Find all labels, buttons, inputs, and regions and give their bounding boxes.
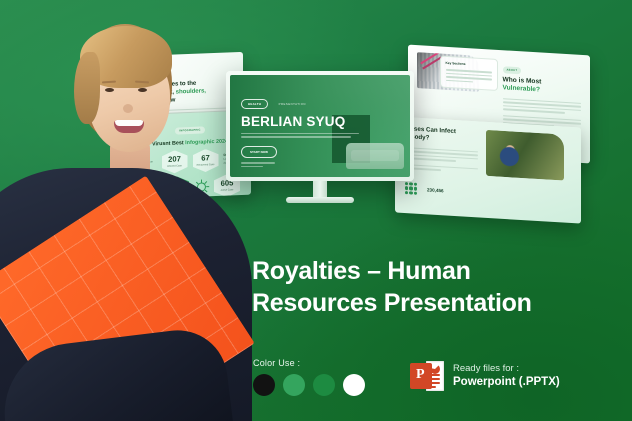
- monitor-bezel: HEALTH PRESENTATION BERLIAN SYUQ START N…: [226, 71, 414, 181]
- page-title-line2: Resources Presentation: [252, 288, 582, 320]
- powerpoint-letter: P: [416, 368, 425, 382]
- page-title: Royalties – Human Resources Presentation: [252, 256, 582, 319]
- powerpoint-tile: P: [410, 363, 432, 389]
- ready-files-line1: Ready files for :: [453, 363, 560, 375]
- monitor-stand-base: [286, 197, 354, 203]
- nose: [123, 104, 133, 113]
- desktop-monitor-mockup[interactable]: HEALTH PRESENTATION BERLIAN SYUQ START N…: [226, 71, 414, 203]
- slide-infect-title: ...uses Can Infect ...Body?: [405, 125, 478, 146]
- color-swatch-green[interactable]: [313, 374, 335, 396]
- monitor-screen: HEALTH PRESENTATION BERLIAN SYUQ START N…: [230, 75, 410, 177]
- page-title-line1: Royalties – Human: [252, 256, 582, 288]
- model-photo: [0, 16, 232, 421]
- key-sections-card: Key Sections: [440, 55, 498, 90]
- ready-files-line2: Powerpoint (.PPTX): [453, 375, 560, 389]
- monitor-slide-title: BERLIAN SYUQ: [241, 115, 361, 129]
- monitor-cta-button[interactable]: START NOW: [241, 146, 277, 158]
- slide-thumbnail-infect[interactable]: ...uses Can Infect ...Body? 230,456: [395, 116, 581, 223]
- poster-canvas: HEALTH Pain radiates to the arms, back, …: [0, 0, 632, 421]
- worker-photo: [486, 130, 564, 181]
- monitor-slide-tag: HEALTH: [241, 99, 268, 109]
- monitor-slide-subtag: PRESENTATION: [279, 102, 306, 106]
- color-swatch-white[interactable]: [343, 374, 365, 396]
- powerpoint-icon: P: [410, 361, 444, 391]
- slide-vuln-title: Who is Most Vulnerable?: [503, 76, 582, 98]
- color-swatch-black[interactable]: [253, 374, 275, 396]
- hair-front: [80, 26, 172, 88]
- slide-vuln-tag: ABOUT: [503, 67, 522, 74]
- color-swatch-list: [253, 374, 365, 396]
- mouth: [114, 120, 144, 133]
- ready-files-badge: P Ready files for : Powerpoint (.PPTX): [410, 361, 560, 391]
- monitor-slide-body: [241, 133, 361, 138]
- eye-left: [105, 88, 114, 92]
- color-use-section: Color Use :: [253, 358, 365, 396]
- color-use-label: Color Use :: [253, 358, 365, 368]
- monitor-stand-neck: [313, 181, 327, 198]
- slide-infect-stat: 230,456: [427, 187, 444, 193]
- eye-right: [138, 88, 147, 92]
- monitor-slide-footer: [241, 162, 275, 169]
- color-swatch-light-green[interactable]: [283, 374, 305, 396]
